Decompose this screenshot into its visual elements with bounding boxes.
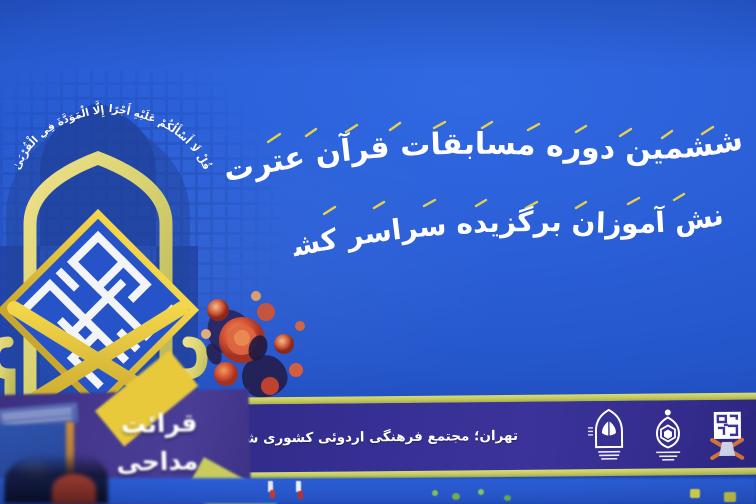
blurred-red-object	[52, 474, 96, 504]
blurred-figure-1-base	[270, 490, 275, 498]
blurred-foliage-4	[504, 495, 511, 501]
category-word-recitation: قرائت	[65, 404, 198, 445]
blurred-foliage-3	[478, 489, 484, 495]
venue-information-strip: تهران؛ مجتمع فرهنگی اردوئی کشوری شهید با…	[195, 393, 756, 480]
blurred-foliage-6	[724, 492, 736, 502]
sponsor-logo-row	[532, 406, 751, 464]
blurred-foliage-5	[690, 489, 700, 498]
blurred-foliage-2	[452, 493, 460, 500]
quran-competition-emblem	[0, 96, 240, 414]
blurred-foliage-1	[432, 490, 438, 496]
ministry-of-education-logo	[586, 407, 633, 463]
cultural-organization-logo	[645, 406, 692, 462]
quran-rehal-logo	[704, 406, 751, 462]
strip-body: تهران؛ مجتمع فرهنگی اردوئی کشوری شهید با…	[195, 400, 756, 473]
banner-photograph: قُلْ لَا أَسْأَلُكُمْ عَلَيْهِ أَجْرًا إ…	[0, 0, 756, 504]
foreground-blur-band	[0, 478, 756, 504]
blurred-figure-2-base	[298, 491, 303, 499]
